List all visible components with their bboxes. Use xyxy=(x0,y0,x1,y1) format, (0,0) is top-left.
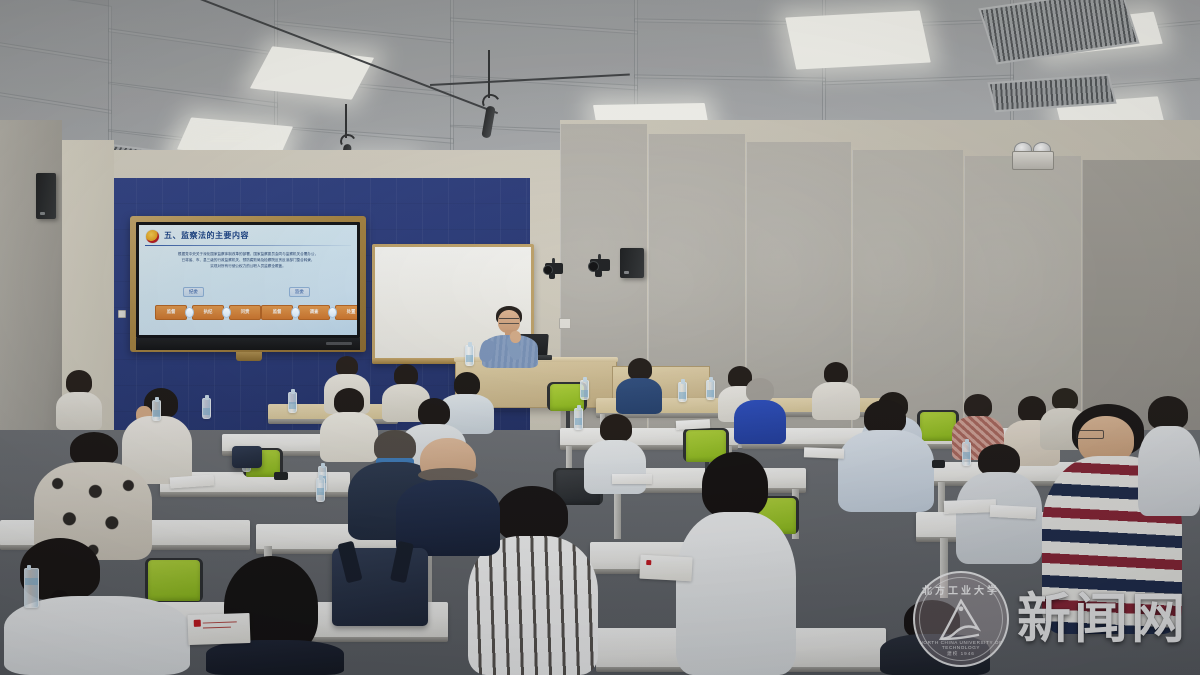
glasses xyxy=(1076,430,1104,439)
display-chin xyxy=(136,338,360,350)
chain-box: 执纪 xyxy=(192,305,224,320)
torso xyxy=(880,634,990,675)
hair xyxy=(66,370,92,394)
bottle-label xyxy=(679,392,686,399)
bottle-label xyxy=(203,408,210,415)
hair xyxy=(334,388,364,414)
ceiling-light-panel xyxy=(194,142,259,150)
bottle-label xyxy=(25,578,38,585)
hair xyxy=(70,432,118,466)
interactive-display[interactable]: 五、监察法的主要内容 根据党中央关于深化国家监察体制改革的部署，国家监察委员会同… xyxy=(130,216,366,352)
national-emblem-icon xyxy=(146,230,159,243)
hair xyxy=(394,364,418,386)
water-bottle xyxy=(152,400,161,421)
hair xyxy=(418,398,450,426)
attendee xyxy=(616,358,662,414)
bottle-label xyxy=(289,402,296,409)
hair xyxy=(964,394,992,418)
water-bottle xyxy=(202,398,211,419)
wall-speaker xyxy=(36,173,56,219)
chain-box: 监督 xyxy=(261,305,293,320)
torso xyxy=(468,536,598,675)
booklet-seal-icon xyxy=(646,560,651,565)
water-bottle xyxy=(574,408,583,430)
puzzle-connector-icon xyxy=(291,307,300,318)
hair xyxy=(864,400,906,434)
phone[interactable] xyxy=(932,460,945,468)
display-stand xyxy=(236,352,262,361)
chair-post xyxy=(566,411,570,428)
attendee xyxy=(880,600,990,675)
presentation-slide: 五、监察法的主要内容 根据党中央关于深化国家监察体制改革的部署，国家监察委员会同… xyxy=(139,225,357,335)
bottle-label xyxy=(317,488,324,495)
water-bottle xyxy=(678,382,687,402)
booklet xyxy=(639,555,692,582)
puzzle-connector-icon xyxy=(185,307,194,318)
wall-speaker xyxy=(620,248,644,278)
attendee xyxy=(734,378,786,444)
slide-chain-left: 监督 执纪 问责 xyxy=(155,305,261,319)
wall-socket xyxy=(559,318,571,329)
torso xyxy=(734,400,786,444)
phone[interactable] xyxy=(274,472,288,480)
attendee xyxy=(56,370,102,430)
slide-chain-right: 监督 调查 处置 xyxy=(261,305,357,319)
water-bottle xyxy=(580,380,589,400)
slide-body: 根据党中央关于深化国家监察体制改革的部署，国家监察委员会同与监察机关合署办公， … xyxy=(151,251,345,270)
bottle-label xyxy=(575,418,582,425)
backpack-strap xyxy=(390,541,414,583)
water-bottle xyxy=(24,568,39,608)
slide-title-rule xyxy=(145,245,351,246)
slide-tag-row: 纪委 监委 xyxy=(139,287,357,298)
hair xyxy=(702,452,768,518)
wall-camera xyxy=(543,258,565,280)
presenter-glasses xyxy=(499,318,519,324)
torso xyxy=(616,378,662,414)
attendee xyxy=(396,438,500,556)
puzzle-connector-icon xyxy=(328,307,337,318)
handout-paper xyxy=(676,419,710,430)
hair xyxy=(824,362,848,384)
handout-paper xyxy=(944,499,996,514)
presenter-hand xyxy=(510,331,521,343)
bottle-label xyxy=(963,452,970,459)
slide-tag-left: 纪委 xyxy=(183,287,204,297)
hair xyxy=(496,486,568,542)
wall-socket xyxy=(118,310,126,318)
slide-body-line-3: 实现对所有行使公权力的公职人员监察全覆盖。 xyxy=(151,263,345,269)
booklet-line xyxy=(203,621,237,623)
bottle-label xyxy=(707,390,714,397)
water-bottle xyxy=(316,478,325,502)
slide-title: 五、监察法的主要内容 xyxy=(164,230,249,241)
booklet-line xyxy=(203,627,231,629)
display-bezel: 五、监察法的主要内容 根据党中央关于深化国家监察体制改革的部署，国家监察委员会同… xyxy=(136,222,360,338)
wall-camera xyxy=(588,254,612,278)
chain-box: 处置 xyxy=(335,305,357,320)
torso xyxy=(1138,426,1200,516)
puzzle-connector-icon xyxy=(222,307,231,318)
slide-tag-right: 监委 xyxy=(289,287,310,297)
hair xyxy=(454,372,480,396)
hair xyxy=(600,414,632,442)
lecture-hall-photo: 五、监察法的主要内容 根据党中央关于深化国家监察体制改革的部署，国家监察委员会同… xyxy=(0,0,1200,675)
ceiling-light-panel xyxy=(785,10,931,69)
backpack xyxy=(332,548,428,626)
water-bottle xyxy=(706,380,715,400)
handout-paper xyxy=(990,505,1037,519)
desk-leg xyxy=(940,538,948,598)
torso xyxy=(206,640,344,675)
backpack-strap xyxy=(337,541,362,584)
handout-paper xyxy=(612,474,652,484)
hair xyxy=(746,378,774,402)
torso xyxy=(676,512,796,675)
desk-leg xyxy=(614,489,621,539)
hair xyxy=(628,358,652,380)
torso xyxy=(56,392,102,430)
handout-paper xyxy=(804,447,844,458)
emergency-light xyxy=(1012,142,1056,170)
booklet xyxy=(187,613,250,645)
attendee xyxy=(676,452,796,675)
handbag xyxy=(232,446,262,468)
torso xyxy=(838,430,934,512)
water-bottle xyxy=(288,392,297,413)
chain-box: 监督 xyxy=(155,305,187,320)
hair xyxy=(1148,396,1188,430)
display-brand-mark xyxy=(326,342,352,345)
presenter xyxy=(472,306,548,368)
booklet-seal-icon xyxy=(194,620,201,627)
chain-box: 调查 xyxy=(298,305,330,320)
chain-box: 问责 xyxy=(229,305,261,320)
attendee xyxy=(1138,396,1200,516)
water-bottle xyxy=(962,442,971,466)
bottle-label xyxy=(153,410,160,417)
attendee xyxy=(838,400,934,512)
hair xyxy=(336,356,358,376)
bottle-label xyxy=(581,390,588,397)
